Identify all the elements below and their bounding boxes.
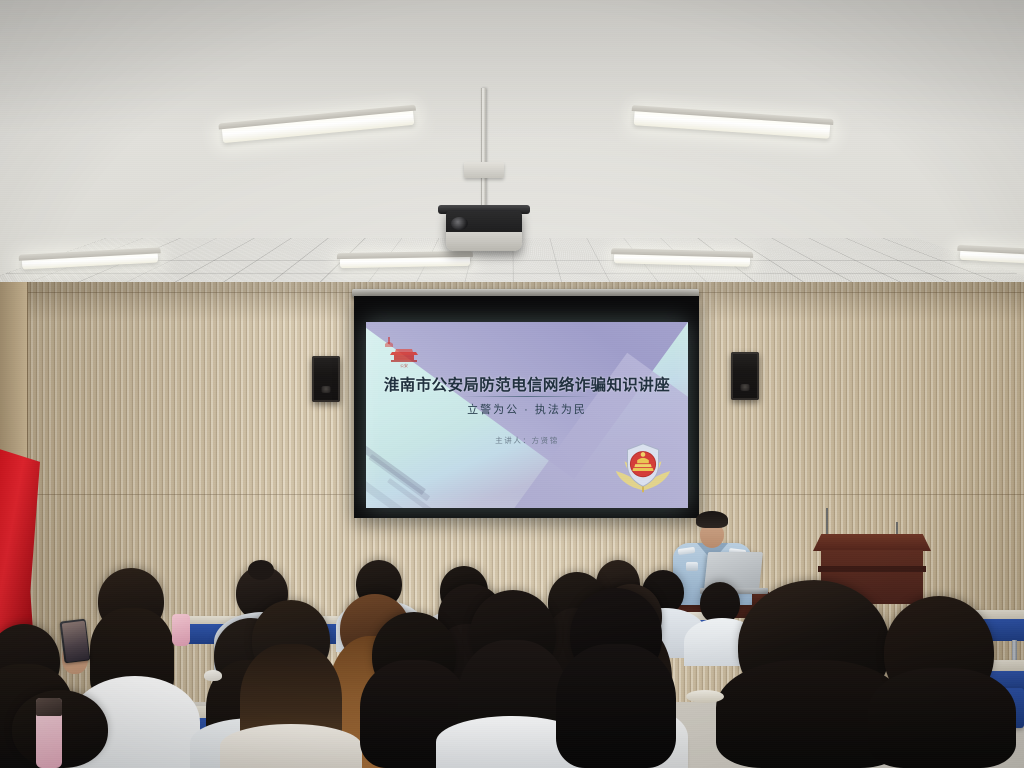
pink-water-bottle	[172, 614, 190, 646]
ceiling-light-4	[340, 255, 470, 268]
officer-chest-badge	[686, 562, 698, 571]
wall-speaker-left	[312, 356, 340, 402]
smartphone-in-hand	[60, 619, 91, 664]
projector-ceiling-plate	[464, 162, 504, 178]
acoustic-tile-ceiling	[0, 0, 1024, 300]
audience-member-torso	[220, 724, 362, 768]
projector-lens-icon	[451, 217, 468, 230]
audience-hair	[556, 644, 676, 768]
projector-mount-rod	[481, 88, 486, 210]
tiananmen-red-logo: 公安	[380, 334, 428, 368]
thermos-lid	[36, 698, 62, 716]
wall-speaker-right	[731, 352, 759, 400]
desk-item-mouse	[204, 670, 222, 681]
audience-hair	[868, 668, 1016, 768]
podium-mic-left	[826, 508, 828, 536]
officer-hair	[696, 511, 728, 528]
podium-mic-right	[896, 522, 898, 536]
lecture-hall-photo: 公安 淮南市公安局防范电信网络诈骗知识讲座 立警为公 · 执法为民 主讲人：方贤…	[0, 0, 1024, 768]
slide-title: 淮南市公安局防范电信网络诈骗知识讲座	[366, 373, 688, 395]
wooden-podium	[813, 534, 931, 551]
audience-hair-bun	[248, 560, 274, 580]
projected-slide: 公安 淮南市公安局防范电信网络诈骗知识讲座 立警为公 · 执法为民 主讲人：方贤…	[366, 322, 688, 508]
desk-item-plate	[686, 690, 724, 703]
svg-text:公安: 公安	[400, 362, 408, 368]
slide-title-rule	[463, 396, 591, 397]
china-police-emblem	[612, 438, 674, 500]
podium-trim	[818, 566, 926, 572]
slide-subtitle: 立警为公 · 执法为民	[366, 401, 688, 417]
